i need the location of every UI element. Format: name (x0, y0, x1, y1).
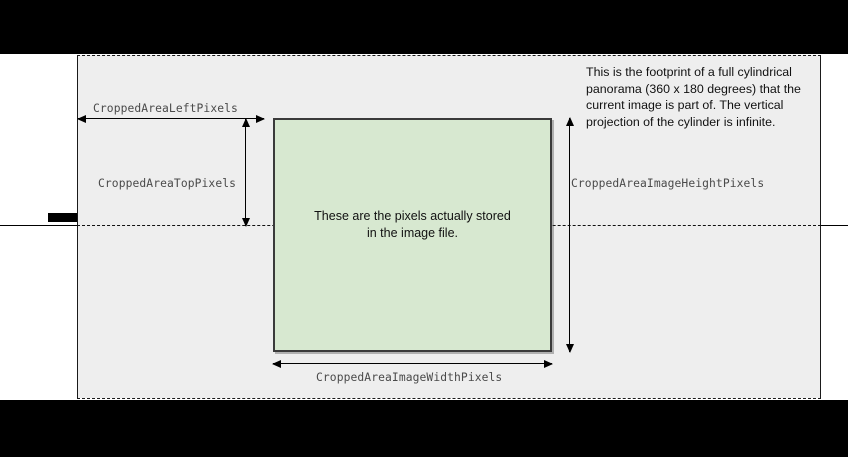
label-cropped-area-top-pixels: CroppedAreaTopPixels (98, 177, 236, 190)
arrowhead-left-icon (77, 115, 86, 123)
footprint-caption: This is the footprint of a full cylindri… (586, 64, 826, 130)
arrowhead-right-icon (256, 115, 265, 123)
cropped-image-caption-line-1: These are the pixels actually stored (275, 208, 550, 225)
label-cropped-area-left-pixels: CroppedAreaLeftPixels (93, 102, 238, 115)
panorama-footprint-top-boundary (77, 55, 821, 56)
arrow-cropped-area-image-width-pixels (273, 363, 552, 364)
cropped-image-caption: These are the pixels actually stored in … (275, 208, 550, 242)
cropped-image-rectangle: These are the pixels actually stored in … (273, 118, 552, 352)
horizon-marker-block (48, 213, 77, 222)
arrow-cropped-area-image-height-pixels (569, 118, 570, 352)
letterbox-band-top (0, 0, 848, 54)
panorama-crop-diagram: This is the footprint of a full cylindri… (0, 0, 848, 457)
label-cropped-area-image-width-pixels: CroppedAreaImageWidthPixels (316, 371, 502, 384)
horizon-line-left (0, 225, 78, 226)
arrowhead-up-icon (566, 117, 574, 126)
arrowhead-left-icon (272, 360, 281, 368)
arrowhead-down-icon (242, 218, 250, 227)
cropped-image-caption-line-2: in the image file. (275, 225, 550, 242)
arrowhead-up-icon (242, 118, 250, 127)
arrow-cropped-area-left-pixels (78, 118, 264, 119)
horizon-line-right (820, 225, 848, 226)
panorama-footprint-left-boundary (77, 55, 78, 399)
arrow-cropped-area-top-pixels (245, 119, 246, 226)
arrowhead-right-icon (544, 360, 553, 368)
label-cropped-area-image-height-pixels: CroppedAreaImageHeightPixels (571, 177, 764, 190)
arrowhead-down-icon (566, 344, 574, 353)
panorama-footprint-bottom-boundary (77, 398, 821, 399)
letterbox-band-bottom (0, 400, 848, 457)
